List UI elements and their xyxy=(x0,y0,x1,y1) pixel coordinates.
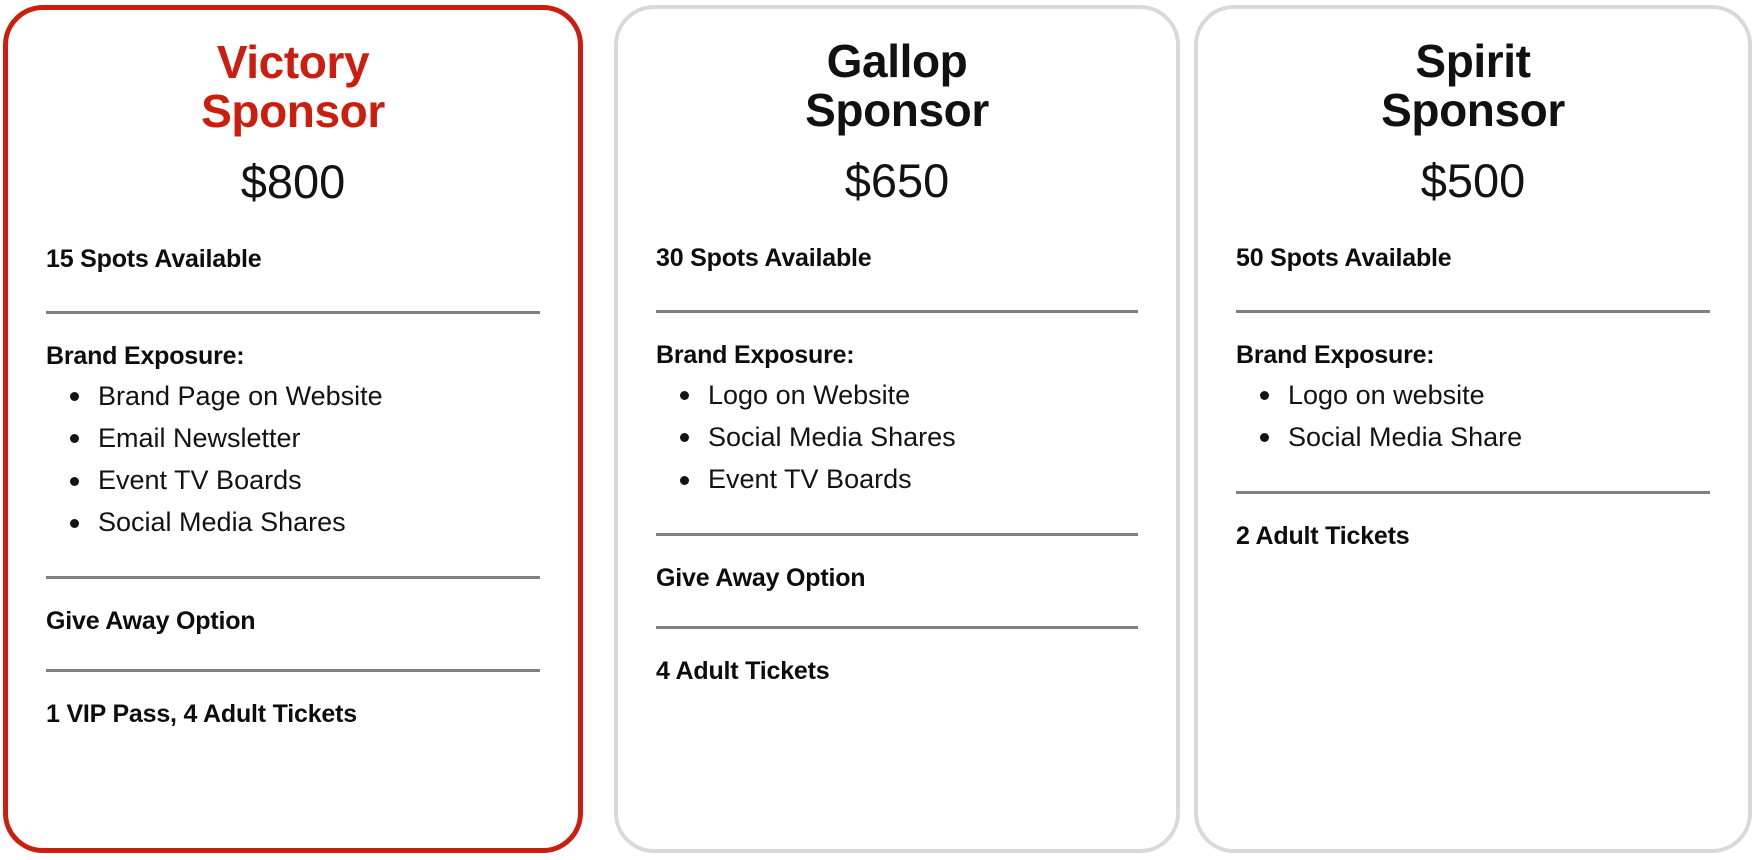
bullet-icon xyxy=(1260,433,1269,442)
list-item: Logo on Website xyxy=(656,374,1138,416)
list-item-label: Social Media Share xyxy=(1288,422,1522,452)
bullet-icon xyxy=(70,519,79,528)
list-item-label: Event TV Boards xyxy=(98,465,302,495)
section-divider xyxy=(1236,491,1710,494)
list-item-label: Event TV Boards xyxy=(708,464,912,494)
bullet-icon xyxy=(1260,391,1269,400)
tickets-line: 2 Adult Tickets xyxy=(1236,522,1710,551)
list-item-label: Social Media Shares xyxy=(708,422,956,452)
list-item: Brand Page on Website xyxy=(46,375,540,417)
tier-title: Spirit Sponsor xyxy=(1236,9,1710,135)
list-item: Email Newsletter xyxy=(46,417,540,459)
tier-price: $800 xyxy=(46,136,540,205)
tier-title: Victory Sponsor xyxy=(46,10,540,136)
list-item-label: Brand Page on Website xyxy=(98,381,383,411)
list-item: Social Media Shares xyxy=(46,501,540,543)
tier-spots-available: 50 Spots Available xyxy=(1236,244,1710,277)
section-divider xyxy=(46,669,540,672)
sponsor-tier-card-spirit[interactable]: Spirit Sponsor $500 50 Spots Available B… xyxy=(1194,5,1752,853)
sponsorship-tier-grid: Victory Sponsor $800 15 Spots Available … xyxy=(0,0,1758,860)
sponsor-tier-card-gallop[interactable]: Gallop Sponsor $650 30 Spots Available B… xyxy=(614,5,1180,853)
bullet-icon xyxy=(680,433,689,442)
bullet-icon xyxy=(70,434,79,443)
tier-title-line-1: Spirit xyxy=(1236,37,1710,86)
bullet-icon xyxy=(70,477,79,486)
section-divider xyxy=(1236,310,1710,313)
bullet-icon xyxy=(680,391,689,400)
tier-title-line-2: Sponsor xyxy=(656,86,1138,135)
list-item: Social Media Share xyxy=(1236,416,1710,458)
card-spacer xyxy=(656,686,1138,849)
list-item: Social Media Shares xyxy=(656,416,1138,458)
brand-exposure-list: Logo on website Social Media Share xyxy=(1236,374,1710,458)
tier-spots-available: 15 Spots Available xyxy=(46,245,540,278)
list-item: Event TV Boards xyxy=(656,458,1138,500)
tickets-line: 4 Adult Tickets xyxy=(656,657,1138,686)
list-item-label: Logo on website xyxy=(1288,380,1485,410)
brand-exposure-heading: Brand Exposure: xyxy=(656,341,1138,370)
brand-exposure-list: Brand Page on Website Email Newsletter E… xyxy=(46,375,540,543)
section-divider xyxy=(656,626,1138,629)
section-divider xyxy=(656,310,1138,313)
section-divider xyxy=(46,311,540,314)
tier-spots-available: 30 Spots Available xyxy=(656,244,1138,277)
tier-title: Gallop Sponsor xyxy=(656,9,1138,135)
tier-body: 30 Spots Available Brand Exposure: Logo … xyxy=(656,204,1138,850)
list-item: Logo on website xyxy=(1236,374,1710,416)
bullet-icon xyxy=(70,392,79,401)
list-item-label: Email Newsletter xyxy=(98,423,301,453)
tier-price: $500 xyxy=(1236,135,1710,204)
give-away-option: Give Away Option xyxy=(46,607,540,636)
tier-price: $650 xyxy=(656,135,1138,204)
card-spacer xyxy=(46,729,540,848)
tier-body: 15 Spots Available Brand Exposure: Brand… xyxy=(46,205,540,849)
tier-title-line-2: Sponsor xyxy=(1236,86,1710,135)
bullet-icon xyxy=(680,476,689,485)
section-divider xyxy=(46,576,540,579)
tickets-line: 1 VIP Pass, 4 Adult Tickets xyxy=(46,700,540,729)
brand-exposure-list: Logo on Website Social Media Shares Even… xyxy=(656,374,1138,500)
tier-title-line-1: Gallop xyxy=(656,37,1138,86)
tier-title-line-1: Victory xyxy=(46,38,540,87)
brand-exposure-heading: Brand Exposure: xyxy=(46,342,540,371)
tier-title-line-2: Sponsor xyxy=(46,87,540,136)
brand-exposure-heading: Brand Exposure: xyxy=(1236,341,1710,370)
tier-body: 50 Spots Available Brand Exposure: Logo … xyxy=(1236,204,1710,850)
list-item-label: Social Media Shares xyxy=(98,507,346,537)
sponsor-tier-card-victory[interactable]: Victory Sponsor $800 15 Spots Available … xyxy=(3,5,583,853)
card-spacer xyxy=(1236,551,1710,849)
give-away-option: Give Away Option xyxy=(656,564,1138,593)
list-item: Event TV Boards xyxy=(46,459,540,501)
list-item-label: Logo on Website xyxy=(708,380,910,410)
section-divider xyxy=(656,533,1138,536)
